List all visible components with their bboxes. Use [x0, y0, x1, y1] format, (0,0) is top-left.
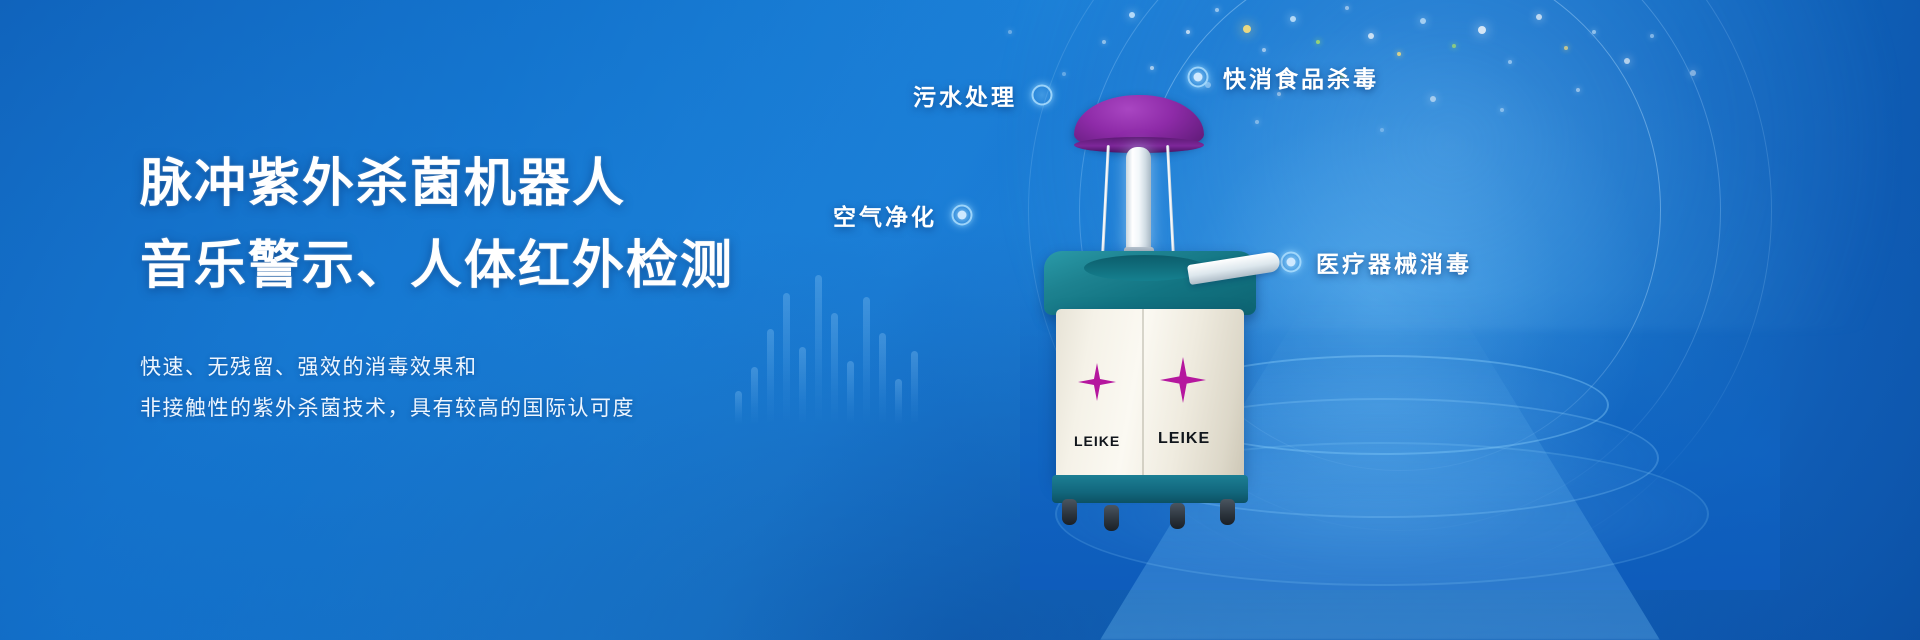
callout-medical-device-disinfection: 医疗器械消毒	[1278, 245, 1472, 279]
device-base-band	[1052, 475, 1248, 503]
callout-label: 污水处理	[913, 78, 1017, 112]
subcopy-block: 快速、无残留、强效的消毒效果和 非接触性的紫外杀菌技术，具有较高的国际认可度	[140, 347, 900, 429]
uv-sterilization-robot: LEIKE LEIKE	[1038, 95, 1298, 495]
node-marker-icon	[949, 202, 975, 228]
callout-label: 医疗器械消毒	[1316, 245, 1472, 279]
caster-wheel	[1170, 503, 1185, 529]
subcopy-line-2: 非接触性的紫外杀菌技术，具有较高的国际认可度	[140, 388, 900, 429]
callout-label: 快消食品杀毒	[1223, 60, 1379, 94]
node-marker-icon	[1185, 64, 1211, 90]
callout-air-purification: 空气净化	[833, 198, 975, 232]
brand-wordmark-right: LEIKE	[1158, 430, 1210, 448]
headline-primary: 脉冲紫外杀菌机器人	[140, 150, 900, 220]
callout-label: 空气净化	[833, 198, 937, 232]
banner-copy: 脉冲紫外杀菌机器人 音乐警示、人体红外检测 快速、无残留、强效的消毒效果和 非接…	[140, 150, 900, 429]
callout-fmcg-food-disinfection: 快消食品杀毒	[1185, 60, 1379, 94]
callout-wastewater-treatment: 污水处理	[913, 78, 1055, 112]
lamp-support-rod-left	[1101, 145, 1110, 255]
lamp-support-rod-right	[1166, 145, 1175, 255]
subcopy-line-1: 快速、无残留、强效的消毒效果和	[140, 347, 900, 388]
hero-banner: 脉冲紫外杀菌机器人 音乐警示、人体红外检测 快速、无残留、强效的消毒效果和 非接…	[0, 0, 1920, 640]
device-body-seam	[1142, 309, 1144, 481]
headline-secondary: 音乐警示、人体红外检测	[140, 232, 900, 302]
caster-wheel	[1062, 499, 1077, 525]
wave-bar	[911, 351, 918, 425]
brand-wordmark-left: LEIKE	[1074, 433, 1120, 449]
uv-lamp-tube	[1126, 147, 1151, 252]
device-body	[1056, 309, 1244, 481]
caster-wheel	[1220, 499, 1235, 525]
caster-wheel	[1104, 505, 1119, 531]
